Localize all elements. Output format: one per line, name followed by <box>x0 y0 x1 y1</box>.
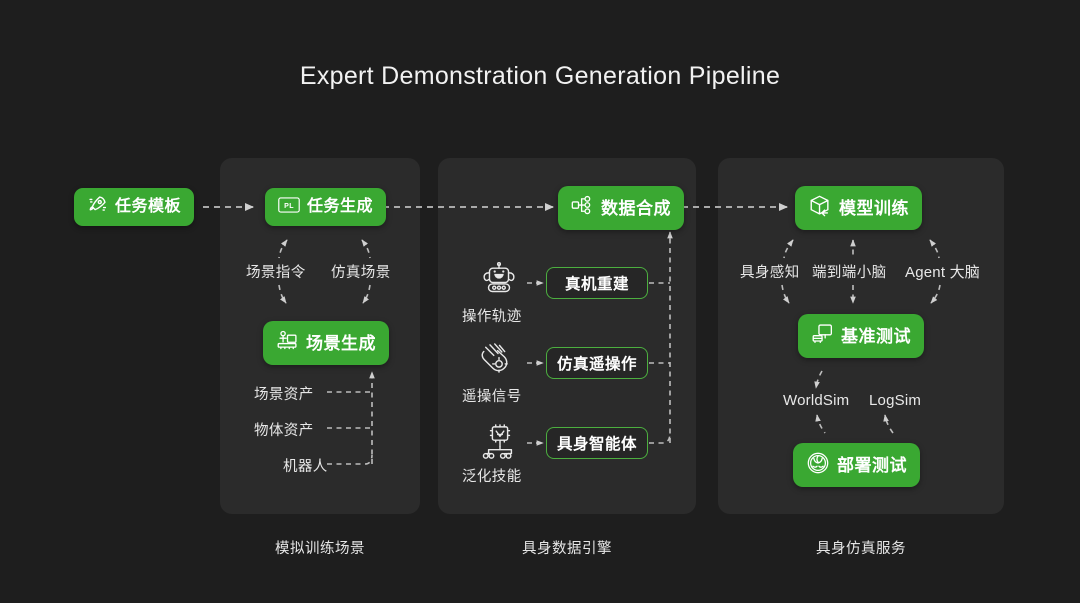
caption-panel-2: 具身数据引擎 <box>438 537 696 558</box>
robot-icon <box>478 262 520 307</box>
label-agent-brain: Agent 大脑 <box>905 261 980 282</box>
node-label: 部署测试 <box>837 457 907 474</box>
label-worldsim: WorldSim <box>783 392 849 409</box>
node-label: 场景生成 <box>306 335 376 352</box>
label-simulation-scene: 仿真场景 <box>331 261 391 282</box>
label-object-assets: 物体资产 <box>254 419 314 440</box>
caption-panel-1: 模拟训练场景 <box>220 537 420 558</box>
label-scene-assets: 场景资产 <box>254 383 314 404</box>
page-title: Expert Demonstration Generation Pipeline <box>0 62 1080 91</box>
node-label: 任务模板 <box>115 199 181 215</box>
node-data-synthesis[interactable]: 数据合成 <box>558 186 684 230</box>
node-benchmark-test[interactable]: 基准测试 <box>798 314 924 358</box>
diagram-canvas: Expert Demonstration Generation Pipeline <box>0 0 1080 603</box>
node-deployment-test[interactable]: 部署测试 <box>793 443 920 487</box>
label-robot: 机器人 <box>283 455 328 476</box>
label-end-to-end-cerebellum: 端到端小脑 <box>812 261 887 282</box>
glove-icon <box>479 343 519 386</box>
node-simulated-teleoperation[interactable]: 仿真遥操作 <box>546 347 648 379</box>
scene-person-icon <box>276 329 299 357</box>
caption-panel-3: 具身仿真服务 <box>718 537 1004 558</box>
label-logsim: LogSim <box>869 392 921 409</box>
ai-chip-icon <box>480 424 520 467</box>
label-embodied-perception: 具身感知 <box>740 261 800 282</box>
merge-node-icon <box>571 194 594 222</box>
monitor-icon <box>811 322 834 350</box>
svg-text:PL: PL <box>284 203 294 210</box>
label-generalization-skill: 泛化技能 <box>462 465 522 486</box>
rocket-icon <box>87 194 108 220</box>
node-task-generation[interactable]: PL 任务生成 <box>265 188 386 226</box>
node-label: 模型训练 <box>839 200 909 217</box>
cube-arrow-icon <box>808 194 832 223</box>
node-real-machine-reconstruction[interactable]: 真机重建 <box>546 267 648 299</box>
label-teleop-signal: 遥操信号 <box>462 385 522 406</box>
label-scene-instruction: 场景指令 <box>246 261 306 282</box>
label-operation-trajectory: 操作轨迹 <box>462 305 522 326</box>
pl-badge-icon: PL <box>278 196 300 219</box>
circular-seal-icon <box>806 451 830 480</box>
node-label: 数据合成 <box>601 200 671 217</box>
node-task-template[interactable]: 任务模板 <box>74 188 194 226</box>
node-model-training[interactable]: 模型训练 <box>795 186 922 230</box>
node-scene-generation[interactable]: 场景生成 <box>263 321 389 365</box>
node-label: 基准测试 <box>841 328 911 345</box>
node-embodied-agent[interactable]: 具身智能体 <box>546 427 648 459</box>
node-label: 任务生成 <box>307 199 373 215</box>
